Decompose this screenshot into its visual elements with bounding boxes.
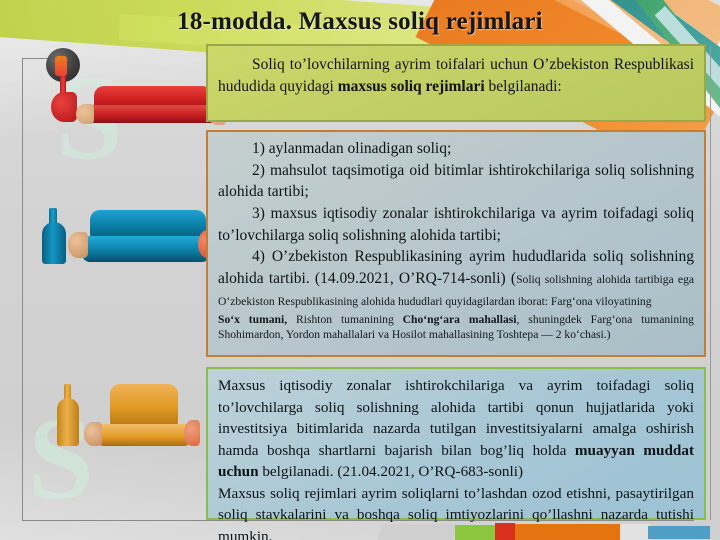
list-item-1: 1) aylanmadan olinadigan soliq;	[218, 138, 694, 160]
lamp-bulb-icon	[55, 56, 67, 76]
intro-text-bold: maxsus soliq rejimlari	[338, 78, 485, 95]
sofa-seat	[82, 236, 210, 262]
list-item-4: 4) O’zbekiston Respublikasining ayrim hu…	[218, 246, 694, 311]
conclusion-paragraph-2: Maxsus soliq rejimlari ayrim soliqlarni …	[218, 483, 694, 540]
bottle-body-icon	[42, 222, 66, 264]
bottle-body-icon	[57, 398, 79, 446]
frame-line-right	[710, 46, 711, 520]
sofa-arm-right	[184, 420, 200, 446]
illustration-sofa-orange	[50, 370, 200, 460]
list-item-2: 2) mahsulot taqsimotiga oid bitimlar ish…	[218, 160, 694, 203]
sofa-seat	[96, 424, 192, 446]
textbox-intro: Soliq to’lovchilarning ayrim toifalari u…	[206, 44, 706, 122]
sofa-arm-left	[84, 422, 102, 446]
page-title: 18-modda. Maxsus soliq rejimlari	[0, 8, 720, 36]
note-bold-chongara: Cho‘ng‘ara mahallasi	[403, 313, 517, 326]
sofa-arm-left	[51, 92, 77, 122]
conclusion-paragraph-1: Maxsus iqtisodiy zonalar ishtirokchilari…	[218, 375, 694, 483]
sofa-arm-left	[68, 232, 88, 258]
note-text-2: Rishton tumanining	[287, 313, 403, 326]
sofa-cushion-left	[76, 104, 94, 124]
slide-canvas: S S S S S 18-modda. Maxsus soliq rejimla…	[0, 0, 720, 540]
intro-text-suffix: belgilanadi:	[485, 78, 562, 95]
illustration-sofa-red	[40, 48, 200, 128]
illustration-sofa-blue	[40, 200, 200, 280]
frame-line-left	[22, 58, 23, 521]
intro-paragraph: Soliq to’lovchilarning ayrim toifalari u…	[218, 54, 694, 98]
list-item-3: 3) maxsus iqtisodiy zonalar ishtirokchil…	[218, 203, 694, 246]
note-bold-sox: So‘x tumani,	[218, 313, 287, 326]
sofa-back	[110, 384, 178, 426]
conclusion-text-suffix: belgilanadi. (21.04.2021, O’RQ-683-sonli…	[259, 463, 523, 480]
sofa-back	[90, 210, 206, 238]
list-note-continued: So‘x tumani, Rishton tumanining Cho‘ng‘a…	[218, 312, 694, 343]
textbox-list: 1) aylanmadan olinadigan soliq; 2) mahsu…	[206, 130, 706, 357]
textbox-conclusion: Maxsus iqtisodiy zonalar ishtirokchilari…	[206, 367, 706, 520]
sofa-seat	[84, 105, 218, 123]
